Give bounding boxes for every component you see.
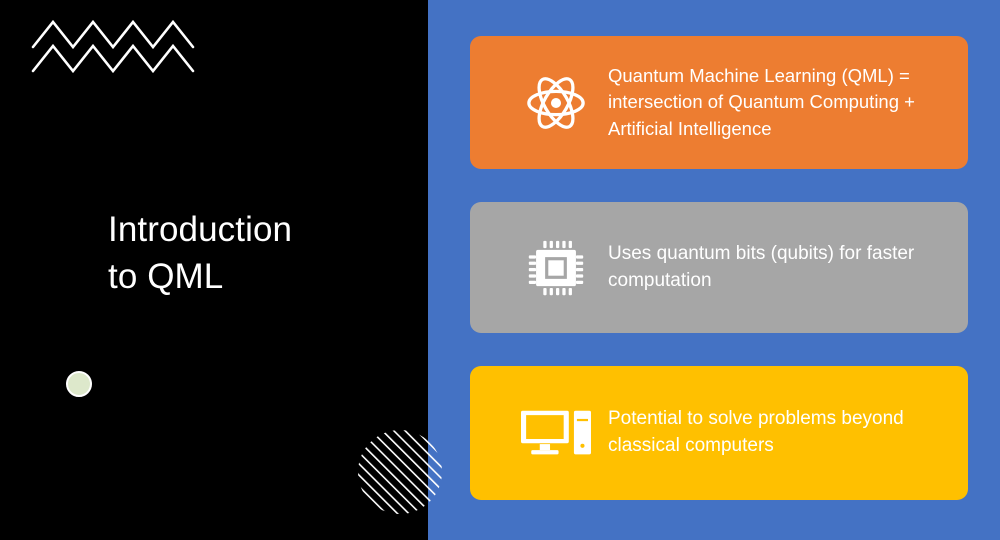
- card-qubits[interactable]: Uses quantum bits (qubits) for faster co…: [470, 202, 968, 333]
- zigzag-icon: [30, 14, 200, 74]
- card-potential[interactable]: Potential to solve problems beyond class…: [470, 366, 968, 500]
- card-text: Uses quantum bits (qubits) for faster co…: [608, 241, 968, 295]
- green-circle-dot: [66, 371, 92, 397]
- striped-circle-icon: [358, 430, 442, 514]
- atom-icon: [506, 72, 606, 134]
- desktop-computer-icon: [506, 407, 606, 459]
- cpu-chip-icon: [506, 239, 606, 297]
- card-text: Quantum Machine Learning (QML) = interse…: [608, 63, 968, 141]
- page-title: Introduction to QML: [108, 206, 408, 301]
- card-quantum-machine-learning[interactable]: Quantum Machine Learning (QML) = interse…: [470, 36, 968, 169]
- slide-canvas: Introduction to QML: [0, 0, 1000, 540]
- card-text: Potential to solve problems beyond class…: [608, 406, 968, 460]
